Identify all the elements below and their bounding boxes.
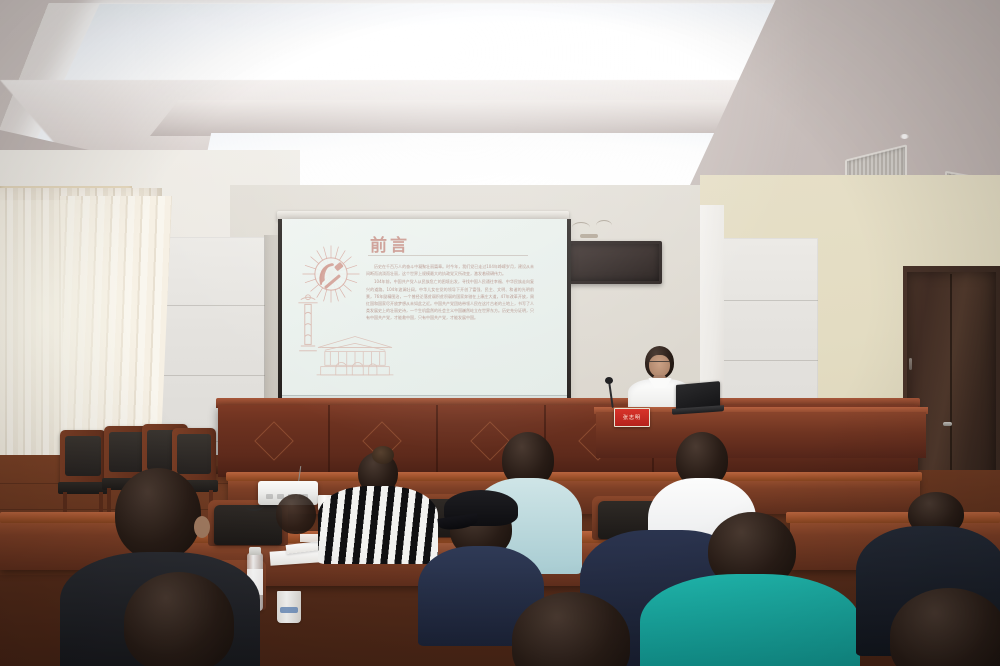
projector-port [266,494,273,499]
cup-logo-band [280,607,298,613]
ceiling-cable [596,220,612,231]
attendee-ear [194,516,210,538]
wainscot-seam [157,375,265,376]
wainscot-seam [722,300,818,301]
attendee-far-right [880,588,1000,666]
projection-screen: 前言 历史在千百万人的奋斗中凝聚壮丽篇章。时今年，我们党已走过104年峥嵘岁月，… [282,219,567,405]
attendee-head [512,592,630,666]
podium-inlay-diamond [254,421,294,461]
attendee-back-left-small [276,494,328,544]
led-information-panel [566,241,662,284]
ceiling-cable-clip [580,234,598,238]
glasses-icon [649,361,670,366]
chair-back-pad [109,432,145,472]
door-hinge-icon [909,358,912,370]
attendee-torso [640,574,860,666]
hair-bun [372,446,394,464]
attendee-head [115,468,201,560]
attendee-front-left [82,572,272,666]
presenter-nameplate: 张志明 [614,408,650,427]
wainscot-seam [157,305,265,306]
ceiling-cable [572,222,590,233]
microphone-head-icon [605,377,613,384]
slide-title: 前言 [370,231,410,256]
nameplate-text: 张志明 [623,414,641,421]
attendee-teal-shirt [640,512,860,666]
tiananmen-gate-icon [312,331,398,379]
door-handle-icon[interactable] [943,422,952,426]
attendee-head [276,494,316,534]
slide-paragraph: 历史在千百万人的奋斗中凝聚壮丽篇章。时今年，我们党已走过104年峥嵘岁月，建设从… [366,263,534,277]
wainscot-seam [722,360,818,361]
paper-cup [277,591,301,623]
slide-body-text: 历史在千百万人的奋斗中凝聚壮丽篇章。时今年，我们党已走过104年峥嵘岁月，建设从… [366,263,534,323]
conference-room-photo: 前言 历史在千百万人的奋斗中凝聚壮丽篇章。时今年，我们党已走过104年峥嵘岁月，… [0,0,1000,666]
downlight-icon [900,134,909,139]
presentation-slide: 前言 历史在千百万人的奋斗中凝聚壮丽篇章。时今年，我们党已走过104年峥嵘岁月，… [282,219,567,405]
attendee-head [124,572,234,666]
slide-title-rule [368,255,528,256]
slide-paragraph: 104年前，中国共产党人从民族危亡的困境出发，寻找中国人民通往幸福、中华民族走向… [366,278,534,321]
attendee-head [890,588,1000,666]
attendee-front-center [472,592,662,666]
presenter-face [649,355,670,377]
